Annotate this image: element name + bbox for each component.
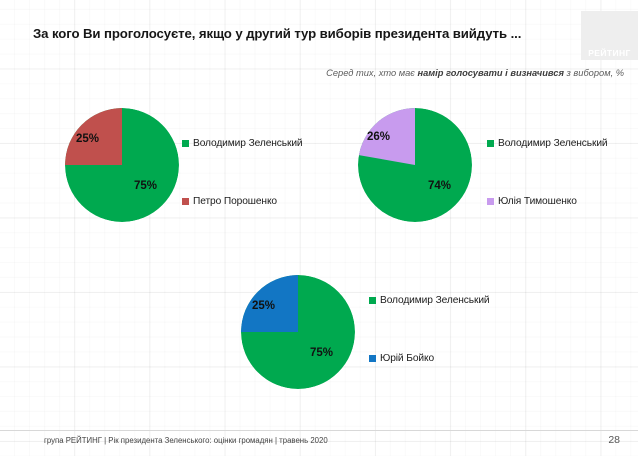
legend-item: Володимир Зеленський	[182, 138, 303, 149]
pie-slice-1-minor	[65, 108, 122, 165]
chart-zelensky-boyko: 25% 75% Володимир Зеленський Юрій Бойко	[170, 167, 570, 407]
legend-swatch-green	[487, 140, 494, 147]
legend-label: Володимир Зеленський	[380, 295, 490, 306]
footer-divider	[0, 430, 638, 431]
pie-svg-3	[241, 275, 355, 389]
pie-slice-2-minor	[359, 108, 415, 165]
legend-item: Володимир Зеленський	[369, 295, 490, 306]
pie-chart-1	[65, 108, 179, 222]
pie-chart-3	[241, 275, 355, 389]
legend-chart-3: Володимир Зеленський Юрій Бойко	[369, 295, 490, 364]
legend-swatch-blue	[369, 355, 376, 362]
page-number: 28	[608, 434, 620, 446]
pie-slice-3-minor	[241, 275, 298, 332]
legend-label: Володимир Зеленський	[193, 138, 303, 149]
legend-item: Володимир Зеленський	[487, 138, 608, 149]
legend-label: Володимир Зеленський	[498, 138, 608, 149]
slide-canvas: За кого Ви проголосуєте, якщо у другий т…	[0, 0, 638, 456]
footer-text: група РЕЙТИНГ | Рік президента Зеленсько…	[44, 436, 328, 445]
legend-item: Юрій Бойко	[369, 353, 490, 364]
pie-svg-1	[65, 108, 179, 222]
legend-swatch-green	[182, 140, 189, 147]
legend-label: Юрій Бойко	[380, 353, 434, 364]
legend-swatch-green	[369, 297, 376, 304]
